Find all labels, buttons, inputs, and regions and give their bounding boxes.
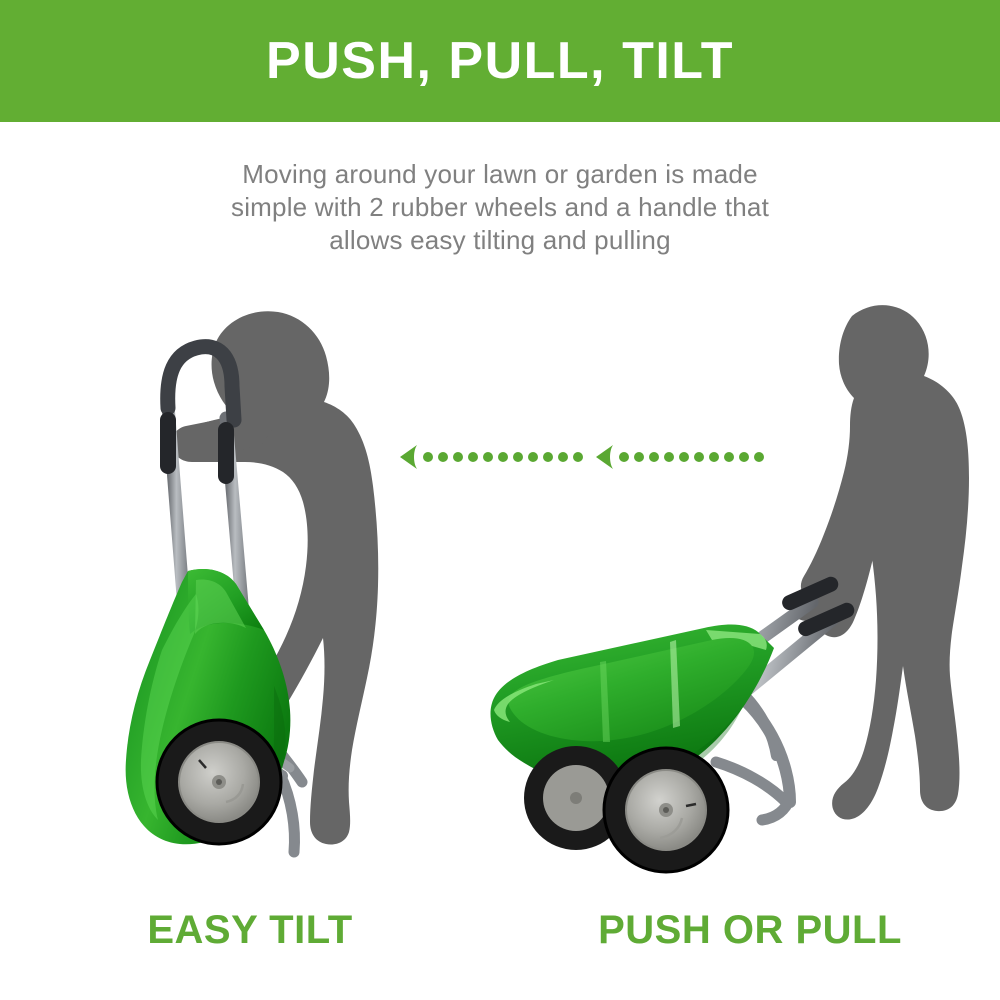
page-title: PUSH, PULL, TILT (266, 35, 734, 87)
push-or-pull-illustration (480, 290, 980, 860)
subtitle-line-3: allows easy tilting and pulling (0, 224, 1000, 257)
subtitle-block: Moving around your lawn or garden is mad… (0, 158, 1000, 257)
person-silhouette-pulling-icon (791, 305, 969, 819)
product-feature-infographic: PUSH, PULL, TILT Moving around your lawn… (0, 0, 1000, 1000)
easy-tilt-label: EASY TILT (0, 910, 500, 950)
header-banner: PUSH, PULL, TILT (0, 0, 1000, 122)
cart-wheel-icon (157, 720, 281, 844)
easy-tilt-illustration (40, 290, 440, 860)
dotted-double-left-arrow-icon (395, 440, 775, 474)
push-or-pull-label: PUSH OR PULL (500, 910, 1000, 950)
cart-wheel-front-icon (604, 748, 728, 872)
subtitle-line-1: Moving around your lawn or garden is mad… (0, 158, 1000, 191)
subtitle-line-2: simple with 2 rubber wheels and a handle… (0, 191, 1000, 224)
